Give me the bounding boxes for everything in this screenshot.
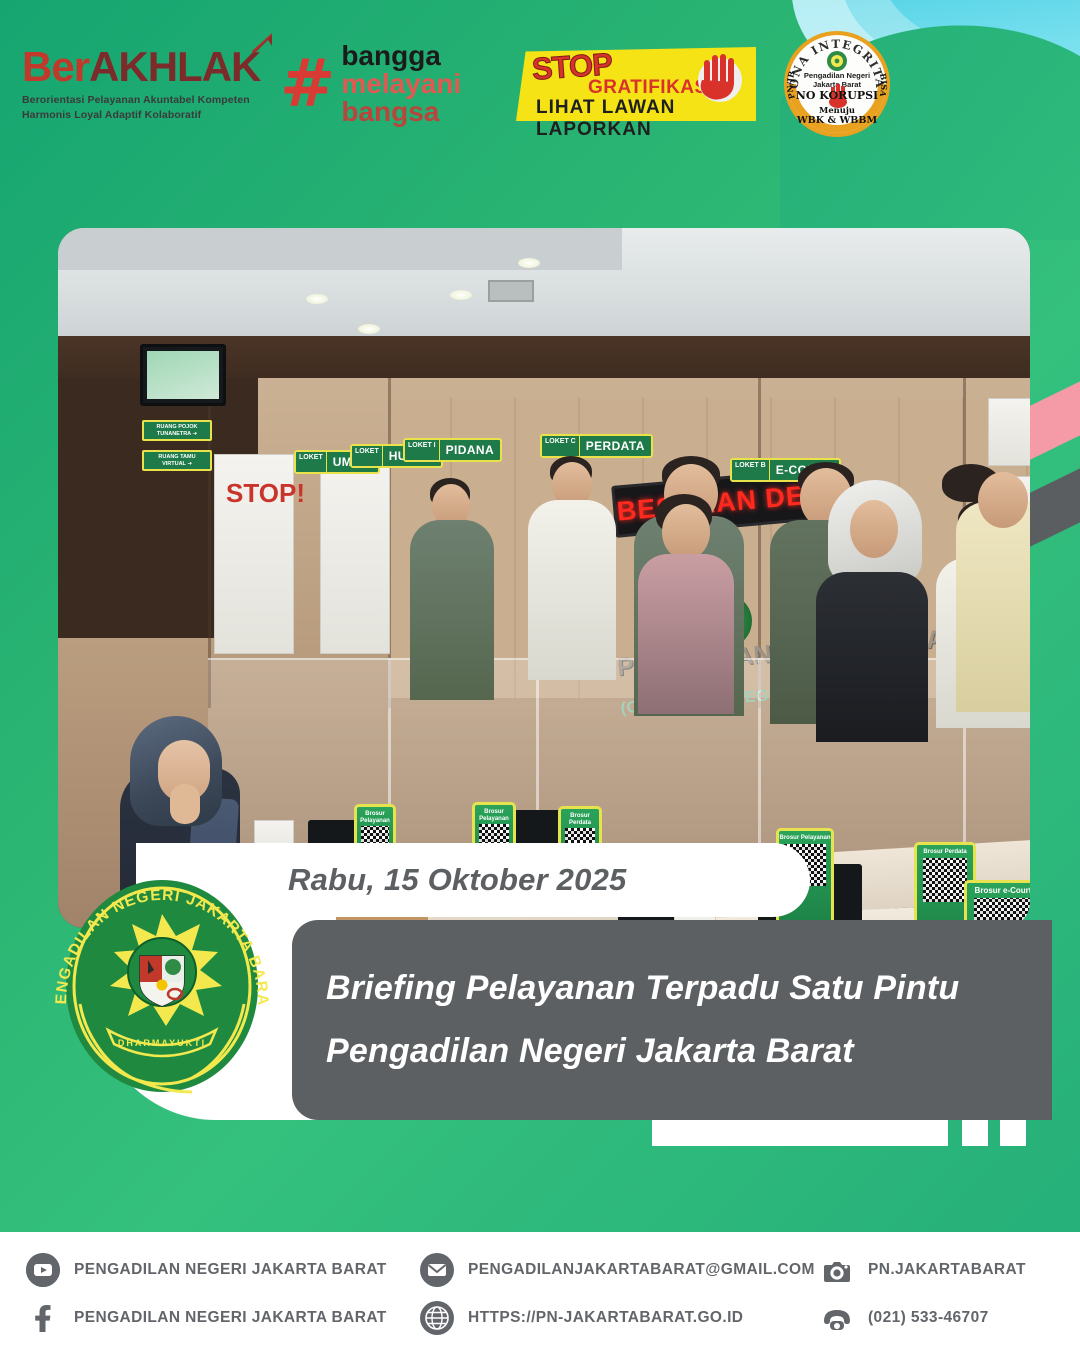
security-officer (956, 502, 1030, 712)
footer-youtube[interactable]: PENGADILAN NEGERI JAKARTA BARAT (0, 1253, 420, 1287)
berakhlak-title-part1: Ber (22, 43, 89, 90)
youtube-label: PENGADILAN NEGERI JAKARTA BARAT (74, 1261, 387, 1279)
svg-text:BISA: BISA (878, 72, 890, 98)
decor-block (1000, 1120, 1026, 1146)
ptsp-briefing-photo: R BESARAN DENDA PELAYANAN TERPADU SATU P… (58, 228, 1030, 928)
youtube-icon (26, 1253, 60, 1287)
decor-block (652, 1120, 948, 1146)
bangga-line2: melayani (341, 70, 461, 98)
poster-headline: STOP! (226, 478, 305, 509)
facebook-label: PENGADILAN NEGERI JAKARTA BARAT (74, 1309, 387, 1327)
qr-code-icon (923, 858, 967, 902)
globe-icon (420, 1301, 454, 1335)
staff-member (528, 500, 616, 680)
email-icon (420, 1253, 454, 1287)
website-label: HTTPS://PN-JAKARTABARAT.GO.ID (468, 1309, 743, 1327)
berakhlak-logo: BerAKHLAK Berorientasi Pelayanan Akuntab… (22, 46, 254, 121)
title-card: Briefing Pelayanan Terpadu Satu Pintu Pe… (292, 920, 1052, 1120)
event-title-line1: Briefing Pelayanan Terpadu Satu Pintu (326, 969, 1018, 1008)
visitor (638, 554, 734, 714)
instagram-label: PN.JAKARTABARAT (868, 1261, 1026, 1279)
framed-certificate (988, 398, 1030, 466)
footer-instagram[interactable]: PN.JAKARTABARAT (820, 1253, 1026, 1287)
direction-sign-tunanetra: RUANG POJOK TUNANETRA ➜ (142, 420, 212, 441)
zona-right-label: BISA (878, 72, 890, 98)
zona-no-korupsi: NO KORUPSI (796, 89, 878, 102)
telephone-icon (820, 1301, 854, 1335)
zona-integritas-logo: ZONA INTEGRITAS Pengadilan Negeri Jakart… (782, 29, 892, 139)
zona-bottom-line2: WBK & WBBM (796, 115, 878, 126)
loket-sign-perdata: LOKET C PERDATA (540, 434, 653, 458)
bangga-line1: bangga (341, 42, 461, 70)
direction-sign-virtual: RUANG TAMU VIRTUAL ➜ (142, 450, 212, 471)
event-title-line2: Pengadilan Negeri Jakarta Barat (326, 1032, 1018, 1071)
header-logo-row: BerAKHLAK Berorientasi Pelayanan Akuntab… (0, 28, 1080, 140)
facebook-icon (26, 1301, 60, 1335)
footer-email[interactable]: PENGADILANJAKARTABARAT@GMAIL.COM (420, 1253, 820, 1287)
berakhlak-title-part2: AKHLAK (89, 43, 260, 90)
hashtag-icon: # (280, 58, 335, 111)
info-poster (320, 454, 390, 654)
bangga-melayani-bangsa-logo: # bangga melayani bangsa (280, 42, 490, 126)
arrow-up-right-icon (250, 32, 276, 54)
stop-hand-icon (692, 50, 748, 106)
berakhlak-subtitle-line1: Berorientasi Pelayanan Akuntabel Kompete… (22, 93, 254, 107)
instagram-icon (820, 1253, 854, 1287)
wall-tv (140, 344, 226, 406)
footer-website[interactable]: HTTPS://PN-JAKARTABARAT.GO.ID (420, 1301, 820, 1335)
email-label: PENGADILANJAKARTABARAT@GMAIL.COM (468, 1261, 815, 1279)
bangga-line3: bangsa (341, 98, 461, 126)
court-seal-icon: PENGADILAN NEGERI JAKARTA BARAT DHARMAYU… (36, 872, 288, 1100)
zona-institution-line1: Pengadilan Negeri (804, 71, 870, 80)
zona-bottom-line1: Menuju (819, 105, 855, 115)
footer-phone[interactable]: (021) 533-46707 (820, 1301, 989, 1335)
event-date: Rabu, 15 Oktober 2025 (288, 862, 626, 898)
visitor (816, 572, 928, 742)
seal-banner-text: DHARMAYUKTI (118, 1038, 206, 1048)
berakhlak-subtitle-line2: Harmonis Loyal Adaptif Kolaboratif (22, 108, 254, 122)
staff-member (410, 520, 494, 700)
phone-label: (021) 533-46707 (868, 1309, 989, 1327)
decor-block (962, 1120, 988, 1146)
stop-gratifikasi-logo: STOP GRATIFIKASI LIHAT LAWAN LAPORKAN (516, 47, 756, 121)
loket-sign-pidana: LOKET I PIDANA (403, 438, 502, 462)
footer-facebook[interactable]: PENGADILAN NEGERI JAKARTA BARAT (0, 1301, 420, 1335)
footer-contact-bar: PENGADILAN NEGERI JAKARTA BARAT PENGADIL… (0, 1232, 1080, 1350)
